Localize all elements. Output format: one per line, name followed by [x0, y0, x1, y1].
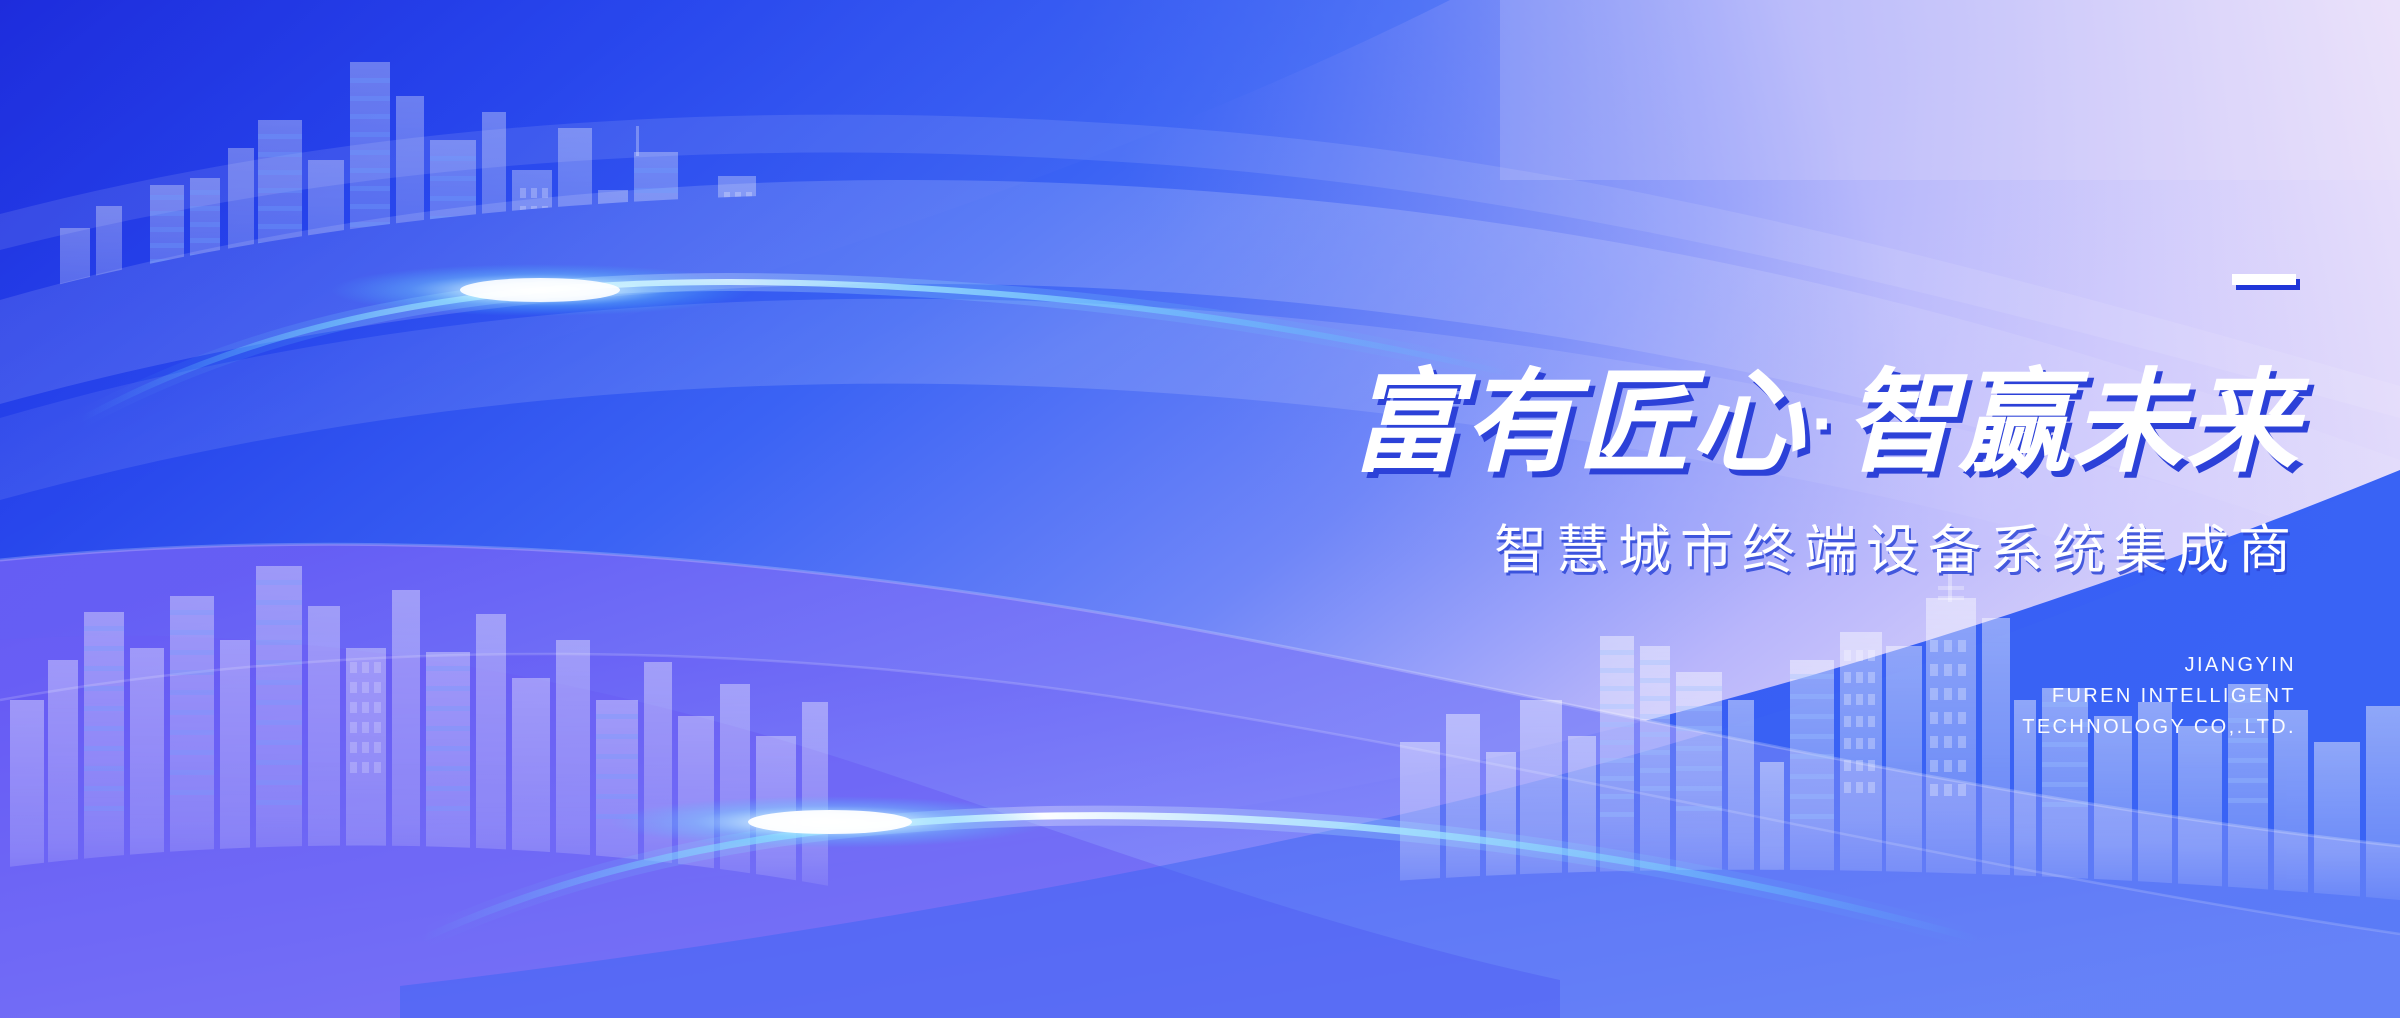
title-part-1: 富有匠心 — [1349, 360, 1805, 485]
title-separator-dot: · — [1805, 382, 1844, 465]
company-name-line-3: TECHNOLOGY CO,.LTD. — [2022, 712, 2296, 743]
company-name-line-1: JIANGYIN — [2022, 650, 2296, 681]
company-name-en: JIANGYIN FUREN INTELLIGENT TECHNOLOGY CO… — [2022, 650, 2296, 743]
page-subtitle: 智慧城市终端设备系统集成商 — [1050, 508, 2302, 584]
title-part-2: 智赢未来 — [1844, 360, 2300, 485]
decor-dash-row — [1046, 272, 2296, 290]
dash-mark-icon — [2232, 274, 2296, 285]
headline-block: 富有匠心·智赢未来 智慧城市终端设备系统集成商 JIANGYIN FUREN I… — [1050, 250, 2300, 750]
page-title: 富有匠心·智赢未来 — [1050, 360, 2300, 485]
company-name-line-2: FUREN INTELLIGENT — [2022, 681, 2296, 712]
banner-root: 富有匠心·智赢未来 智慧城市终端设备系统集成商 JIANGYIN FUREN I… — [0, 0, 2400, 1018]
